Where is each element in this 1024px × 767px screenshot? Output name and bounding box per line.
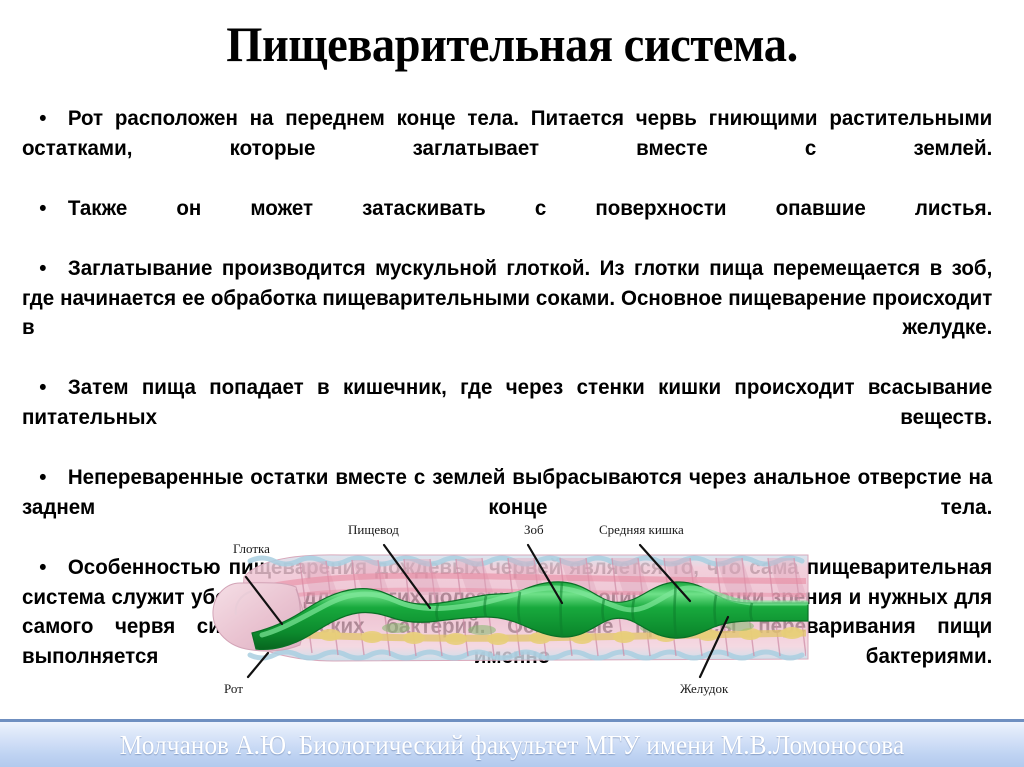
figure-label-midgut: Средняя кишка <box>599 522 684 537</box>
figure-label-crop: Зоб <box>524 522 544 537</box>
list-item-text: Затем пища попадает в кишечник, где чере… <box>22 375 992 429</box>
list-item-text: Заглатывание производится мускульной гло… <box>22 256 992 339</box>
bullet-marker: • <box>22 254 68 284</box>
list-item: •Заглатывание производится мускульной гл… <box>22 254 992 372</box>
list-item: •Рот расположен на переднем конце тела. … <box>22 104 992 193</box>
figure-label-pharynx: Глотка <box>233 541 270 556</box>
bullet-marker: • <box>22 194 68 224</box>
list-item-text: Также он может затаскивать с поверхности… <box>68 196 992 220</box>
page-title: Пищеварительная система. <box>36 14 988 74</box>
list-item: •Также он может затаскивать с поверхност… <box>22 194 992 253</box>
bullet-marker: • <box>22 463 68 493</box>
list-item: •Затем пища попадает в кишечник, где чер… <box>22 373 992 462</box>
figure-label-gizzard: Желудок <box>680 681 728 696</box>
bullet-marker: • <box>22 104 68 134</box>
footer-credit: Молчанов А.Ю. Биологический факультет МГ… <box>31 726 994 764</box>
figure-label-oesophagus: Пищевод <box>348 522 399 537</box>
list-item-text: Непереваренные остатки вместе с землей в… <box>22 465 992 519</box>
footer-bar: Молчанов А.Ю. Биологический факультет МГ… <box>0 719 1024 767</box>
list-item-text: Рот расположен на переднем конце тела. П… <box>22 106 992 160</box>
bullet-marker: • <box>22 373 68 403</box>
figure-label-mouth: Рот <box>224 681 243 696</box>
earthworm-illustration <box>0 525 1024 715</box>
earthworm-digestive-diagram: Глотка Пищевод Зоб Средняя кишка Рот Жел… <box>0 525 1024 715</box>
